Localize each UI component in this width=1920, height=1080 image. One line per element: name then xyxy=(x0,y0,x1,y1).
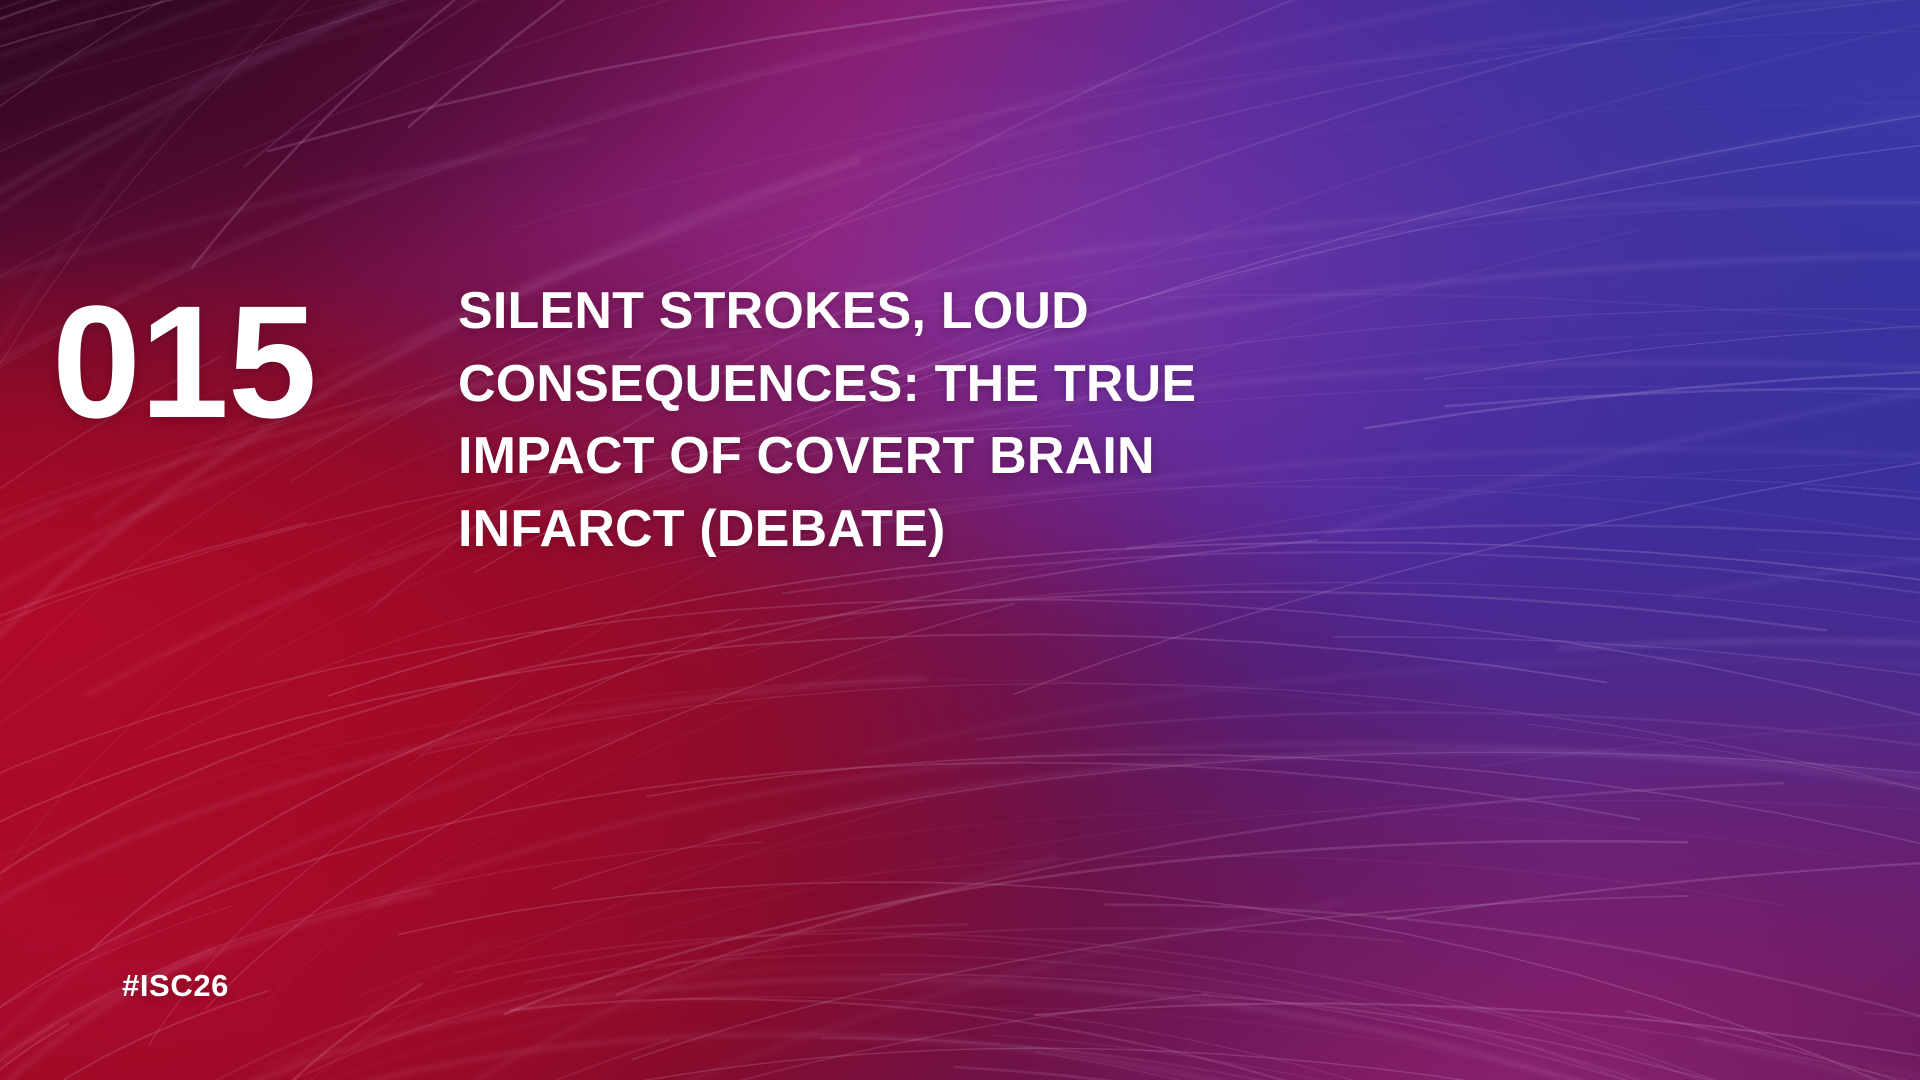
session-title-line: INFARCT (DEBATE) xyxy=(458,493,1388,566)
session-number: 015 xyxy=(52,282,316,442)
session-title-line: SILENT STROKES, LOUD xyxy=(458,275,1388,348)
session-title-line: CONSEQUENCES: THE TRUE xyxy=(458,348,1388,421)
session-title: SILENT STROKES, LOUDCONSEQUENCES: THE TR… xyxy=(458,275,1388,566)
session-title-line: IMPACT OF COVERT BRAIN xyxy=(458,420,1388,493)
event-hashtag: #ISC26 xyxy=(122,968,229,1004)
slide-content: 015 SILENT STROKES, LOUDCONSEQUENCES: TH… xyxy=(0,0,1920,1080)
session-slide: 015 SILENT STROKES, LOUDCONSEQUENCES: TH… xyxy=(0,0,1920,1080)
